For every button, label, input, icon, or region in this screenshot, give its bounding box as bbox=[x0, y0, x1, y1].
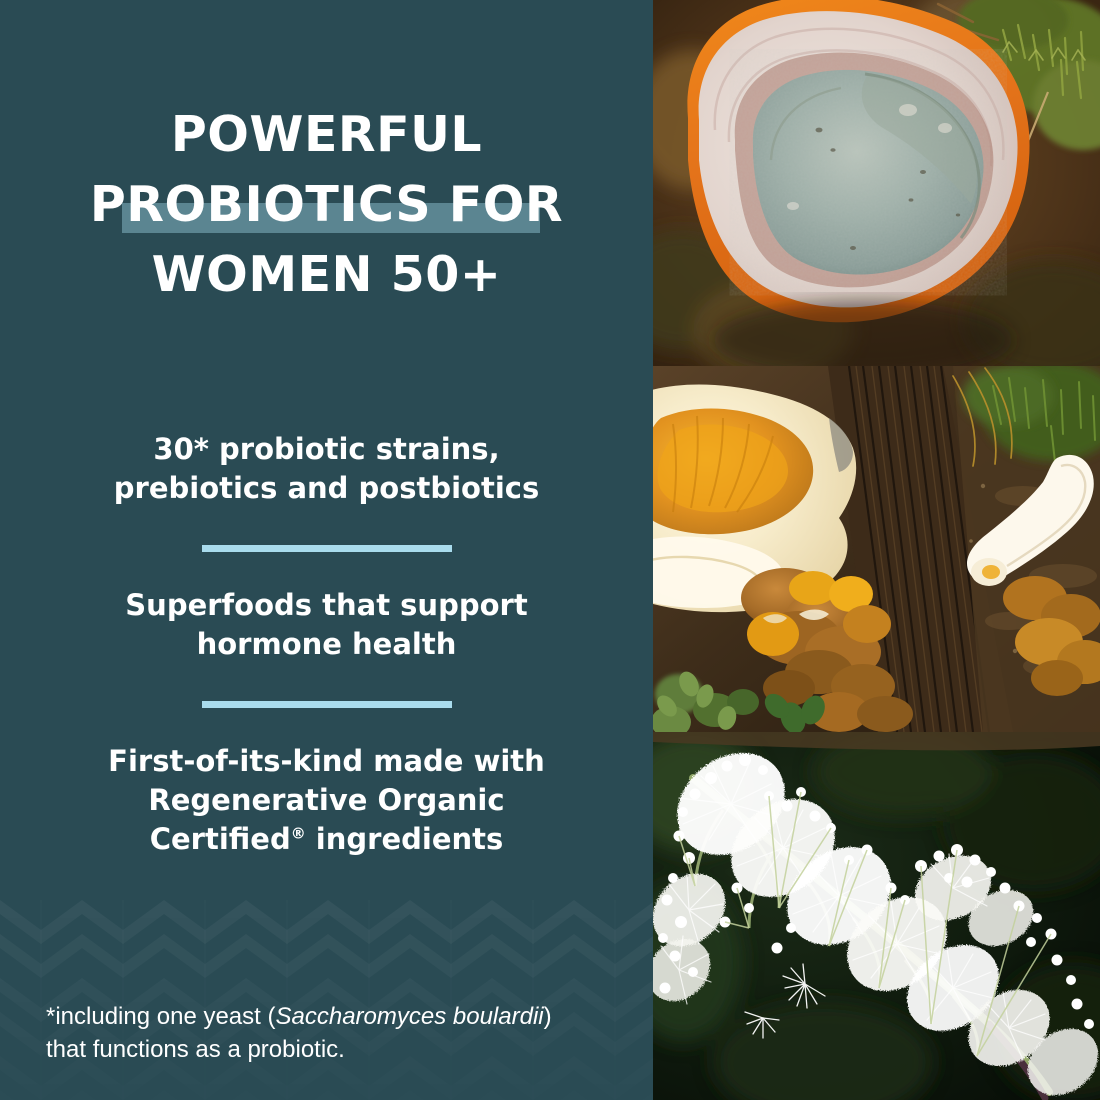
registered-trademark-symbol: ® bbox=[291, 824, 306, 842]
section-divider-1 bbox=[202, 545, 452, 552]
photo-reishi-bracket-fungus bbox=[653, 0, 1100, 366]
page-title: POWERFUL PROBIOTICS FOR WOMEN 50+ bbox=[0, 100, 653, 310]
headline-line-1: POWERFUL bbox=[0, 100, 653, 170]
benefit-1-line-1: 30* probiotic strains, bbox=[153, 432, 499, 466]
footnote-text: *including one yeast (Saccharomyces boul… bbox=[46, 1000, 576, 1066]
benefit-3-line-3-post: ingredients bbox=[306, 822, 504, 856]
section-divider-2 bbox=[202, 701, 452, 708]
benefit-2-line-2: hormone health bbox=[197, 627, 457, 661]
headline-block: POWERFUL PROBIOTICS FOR WOMEN 50+ bbox=[0, 100, 653, 310]
footnote-part-1: *including one yeast ( bbox=[46, 1003, 275, 1030]
divider-wrap-2 bbox=[0, 664, 653, 742]
benefit-item-superfoods: Superfoods that support hormone health bbox=[0, 586, 653, 664]
photo-column bbox=[653, 0, 1100, 1100]
benefit-item-probiotic-strains: 30* probiotic strains, prebiotics and po… bbox=[0, 430, 653, 508]
benefit-3-line-3-pre: Certified bbox=[150, 822, 291, 856]
headline-line-2: PROBIOTICS FOR bbox=[0, 170, 653, 240]
benefit-item-regenerative-organic: First-of-its-kind made with Regenerative… bbox=[0, 742, 653, 859]
photo-golden-polypore-mushrooms bbox=[653, 366, 1100, 732]
product-benefits-poster: POWERFUL PROBIOTICS FOR WOMEN 50+ 30* pr… bbox=[0, 0, 1100, 1100]
benefits-list: 30* probiotic strains, prebiotics and po… bbox=[0, 430, 653, 859]
headline-line-3: WOMEN 50+ bbox=[0, 240, 653, 310]
left-text-panel: POWERFUL PROBIOTICS FOR WOMEN 50+ 30* pr… bbox=[0, 0, 653, 1100]
benefit-3-line-1: First-of-its-kind made with bbox=[108, 744, 545, 778]
benefit-3-line-2: Regenerative Organic bbox=[148, 783, 504, 817]
divider-wrap-1 bbox=[0, 508, 653, 586]
benefit-1-line-2: prebiotics and postbiotics bbox=[114, 471, 539, 505]
footnote-species-name: Saccharomyces boulardii bbox=[275, 1003, 543, 1030]
photo-black-cohosh-flowers bbox=[653, 732, 1100, 1100]
benefit-2-line-1: Superfoods that support bbox=[125, 588, 527, 622]
